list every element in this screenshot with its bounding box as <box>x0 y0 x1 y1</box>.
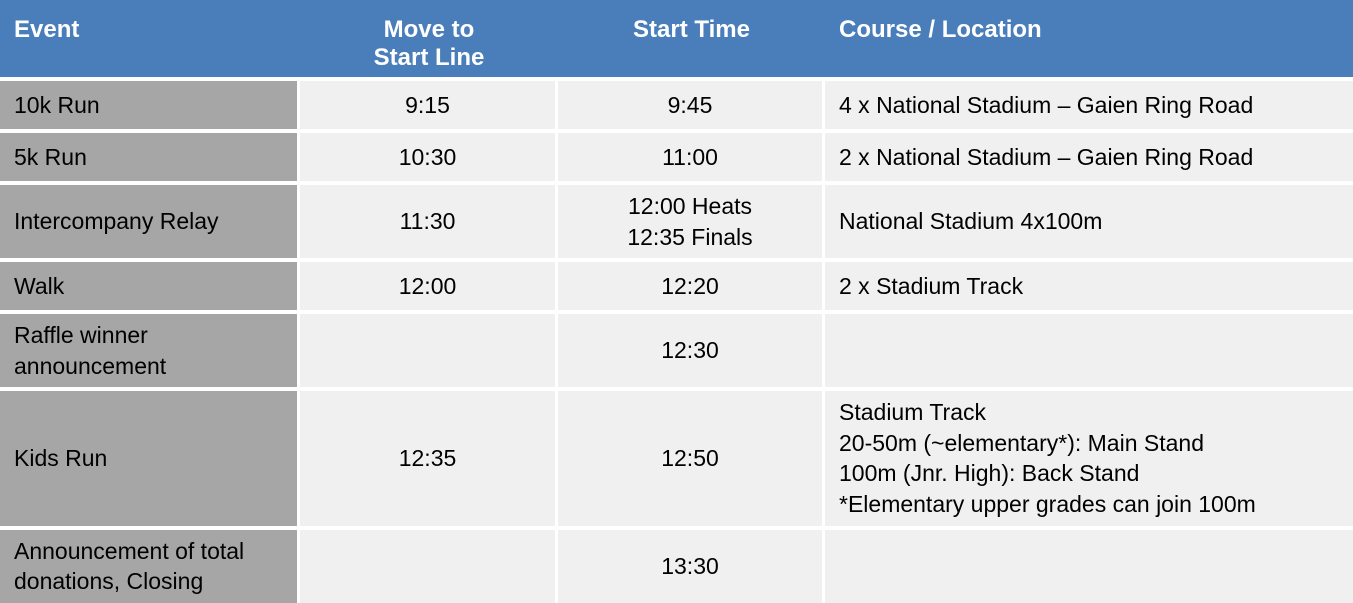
table-body: 10k Run 9:15 9:45 4 x National Stadium –… <box>0 77 1353 603</box>
cell-start-time: 12:20 <box>558 258 825 310</box>
cell-move-to-start-line <box>300 526 558 603</box>
course-location <box>825 530 1353 603</box>
cell-start-time: 9:45 <box>558 77 825 129</box>
cell-start-time: 12:00 Heats 12:35 Finals <box>558 181 825 258</box>
cell-start-time: 11:00 <box>558 129 825 181</box>
cell-course-location <box>825 310 1353 387</box>
start-time: 9:45 <box>558 81 822 129</box>
column-header-move-to-start-line: Move to Start Line <box>300 0 558 77</box>
event-name: Announcement of total donations, Closing <box>0 530 297 603</box>
course-location: National Stadium 4x100m <box>825 185 1353 258</box>
cell-event: Intercompany Relay <box>0 181 300 258</box>
course-location: 4 x National Stadium – Gaien Ring Road <box>825 81 1353 129</box>
event-name: Intercompany Relay <box>0 185 297 258</box>
cell-start-time: 12:50 <box>558 387 825 525</box>
table-row: 5k Run 10:30 11:00 2 x National Stadium … <box>0 129 1353 181</box>
start-time: 11:00 <box>558 133 822 181</box>
cell-start-time: 12:30 <box>558 310 825 387</box>
course-location: Stadium Track 20-50m (~elementary*): Mai… <box>825 391 1353 525</box>
cell-event: Raffle winner announcement <box>0 310 300 387</box>
column-header-course-location-label: Course / Location <box>825 4 1353 77</box>
move-to-start-line-time: 12:00 <box>300 262 555 310</box>
table-row: Raffle winner announcement 12:30 <box>0 310 1353 387</box>
cell-move-to-start-line: 12:35 <box>300 387 558 525</box>
cell-course-location: 2 x National Stadium – Gaien Ring Road <box>825 129 1353 181</box>
table-row: Announcement of total donations, Closing… <box>0 526 1353 603</box>
cell-course-location: Stadium Track 20-50m (~elementary*): Mai… <box>825 387 1353 525</box>
start-time: 12:50 <box>558 391 822 525</box>
course-location: 2 x National Stadium – Gaien Ring Road <box>825 133 1353 181</box>
start-time: 12:20 <box>558 262 822 310</box>
cell-course-location: 4 x National Stadium – Gaien Ring Road <box>825 77 1353 129</box>
event-name: 5k Run <box>0 133 297 181</box>
event-name: Walk <box>0 262 297 310</box>
cell-course-location: 2 x Stadium Track <box>825 258 1353 310</box>
column-header-event-label: Event <box>0 4 300 77</box>
cell-move-to-start-line: 11:30 <box>300 181 558 258</box>
cell-event: Walk <box>0 258 300 310</box>
cell-event: Announcement of total donations, Closing <box>0 526 300 603</box>
cell-move-to-start-line: 10:30 <box>300 129 558 181</box>
cell-course-location <box>825 526 1353 603</box>
cell-move-to-start-line <box>300 310 558 387</box>
cell-event: 5k Run <box>0 129 300 181</box>
table-row: Walk 12:00 12:20 2 x Stadium Track <box>0 258 1353 310</box>
cell-course-location: National Stadium 4x100m <box>825 181 1353 258</box>
cell-move-to-start-line: 9:15 <box>300 77 558 129</box>
cell-start-time: 13:30 <box>558 526 825 603</box>
table-row: Intercompany Relay 11:30 12:00 Heats 12:… <box>0 181 1353 258</box>
event-name: Kids Run <box>0 391 297 525</box>
move-to-start-line-time: 12:35 <box>300 391 555 525</box>
course-location <box>825 314 1353 387</box>
move-to-start-line-time <box>300 314 555 387</box>
column-header-move-to-start-line-label: Move to Start Line <box>300 4 558 77</box>
table-header: Event Move to Start Line Start Time Cour… <box>0 0 1353 77</box>
header-row: Event Move to Start Line Start Time Cour… <box>0 0 1353 77</box>
course-location: 2 x Stadium Track <box>825 262 1353 310</box>
cell-move-to-start-line: 12:00 <box>300 258 558 310</box>
move-to-start-line-time: 11:30 <box>300 185 555 258</box>
event-schedule-table: Event Move to Start Line Start Time Cour… <box>0 0 1353 603</box>
event-name: 10k Run <box>0 81 297 129</box>
cell-event: Kids Run <box>0 387 300 525</box>
move-to-start-line-time <box>300 530 555 603</box>
column-header-start-time-label: Start Time <box>558 4 825 77</box>
move-to-start-line-time: 9:15 <box>300 81 555 129</box>
event-name: Raffle winner announcement <box>0 314 297 387</box>
table-row: 10k Run 9:15 9:45 4 x National Stadium –… <box>0 77 1353 129</box>
column-header-course-location: Course / Location <box>825 0 1353 77</box>
column-header-start-time: Start Time <box>558 0 825 77</box>
column-header-event: Event <box>0 0 300 77</box>
cell-event: 10k Run <box>0 77 300 129</box>
move-to-start-line-time: 10:30 <box>300 133 555 181</box>
start-time: 12:30 <box>558 314 822 387</box>
table-row: Kids Run 12:35 12:50 Stadium Track 20-50… <box>0 387 1353 525</box>
start-time: 13:30 <box>558 530 822 603</box>
start-time: 12:00 Heats 12:35 Finals <box>558 185 822 258</box>
